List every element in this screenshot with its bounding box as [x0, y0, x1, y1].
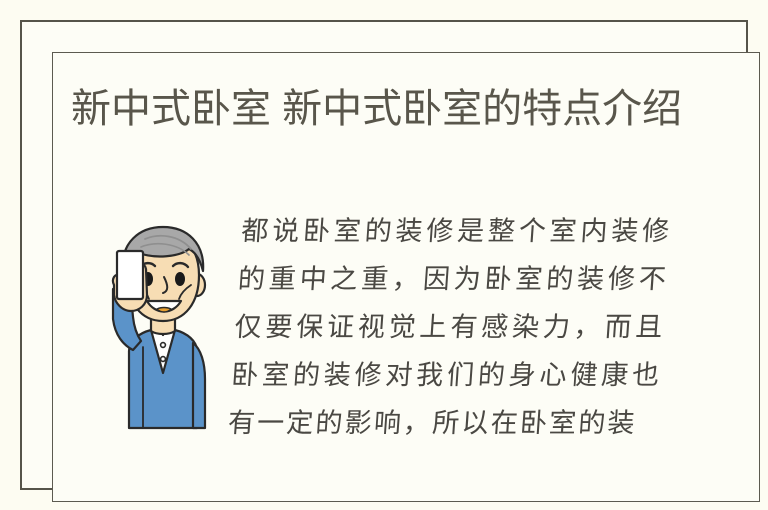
elderly-man-with-phone-illustration [93, 223, 233, 438]
inner-frame-border: 新中式卧室 新中式卧室的特点介绍 [52, 52, 760, 502]
article-content-row: 都说卧室的装修是整个室内装修的重中之重，因为卧室的装修不仅要保证视觉上有感染力，… [53, 198, 759, 502]
article-body-text: 都说卧室的装修是整个室内装修的重中之重，因为卧室的装修不仅要保证视觉上有感染力，… [226, 208, 673, 448]
outer-frame-border: 新中式卧室 新中式卧室的特点介绍 [20, 20, 748, 490]
page-root: 新中式卧室 新中式卧室的特点介绍 [0, 0, 768, 510]
page-title: 新中式卧室 新中式卧室的特点介绍 [71, 81, 711, 137]
